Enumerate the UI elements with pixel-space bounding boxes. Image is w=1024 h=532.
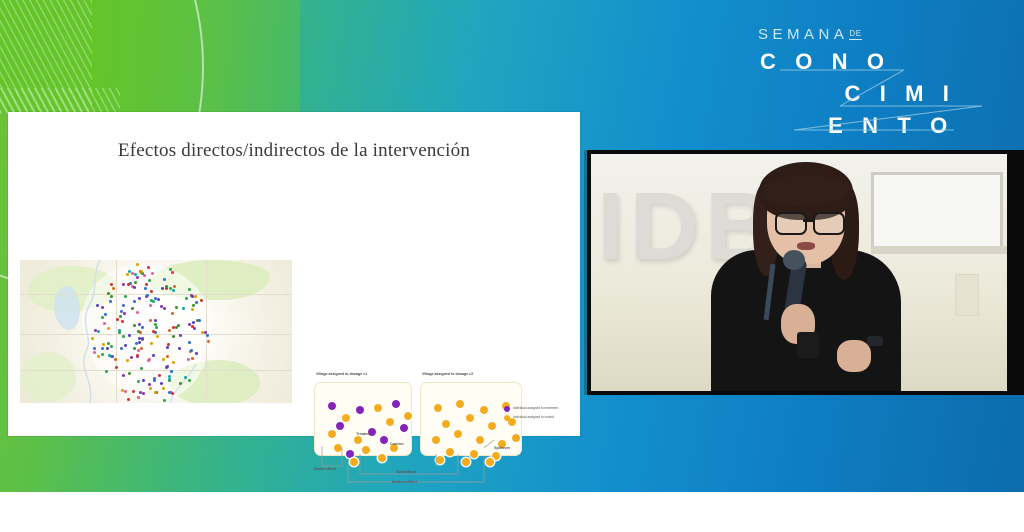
- wall-panel: [955, 274, 979, 316]
- logo-line-4: E N T O: [754, 113, 1006, 139]
- legend-swatch-orange: [504, 415, 510, 421]
- presentation-slide[interactable]: Efectos directos/indirectos de la interv…: [8, 112, 580, 436]
- logo-line-3: C I M I: [754, 81, 1006, 107]
- logo-line-1: SEMANA DE: [754, 26, 1006, 43]
- speaker-glasses: [775, 212, 841, 232]
- diagram-connectors: [308, 370, 576, 488]
- speaker-badge: [797, 332, 819, 358]
- label-treated: Treated: [356, 432, 370, 436]
- logo-word-de: DE: [849, 29, 861, 40]
- speaker-mouth: [797, 242, 815, 250]
- legend-item-control: Individual assigned to control: [504, 415, 576, 421]
- label-indirect-effect: Indirect effect: [392, 480, 417, 484]
- diagram-legend: Individual assigned to treatment Individ…: [504, 406, 576, 424]
- label-control: Control: [390, 442, 404, 446]
- speaker-video-panel[interactable]: IDB: [584, 150, 1024, 395]
- legend-item-treatment: Individual assigned to treatment: [504, 406, 576, 412]
- wall-ledge: [871, 246, 1007, 254]
- effects-diagram: Village assigned to dosage c1 Village as…: [308, 370, 576, 488]
- microphone-head: [783, 250, 805, 270]
- label-spillover: Spillover: [494, 446, 510, 450]
- legend-label-treatment: Individual assigned to treatment: [513, 407, 558, 410]
- footer-bar: AcademiaBID BID: [0, 492, 1024, 532]
- slide-title: Efectos directos/indirectos de la interv…: [8, 140, 580, 162]
- label-total-effect: Total effect: [396, 470, 416, 474]
- stream-viewport: SEMANA DE C O N O C I M I E N T O Efecto…: [0, 0, 1024, 532]
- event-logo: SEMANA DE C O N O C I M I E N T O: [754, 26, 1006, 138]
- wall-window: [871, 172, 1003, 250]
- logo-line-2: C O N O: [754, 49, 1006, 75]
- label-direct-effect: Direct effect: [314, 467, 336, 471]
- intervention-locations-map: [20, 260, 292, 403]
- speaker-hand-second: [837, 340, 871, 372]
- legend-label-control: Individual assigned to control: [513, 416, 554, 419]
- logo-word-semana: SEMANA: [758, 26, 848, 43]
- speaker-video-frame: IDB: [591, 154, 1007, 391]
- legend-swatch-purple: [504, 406, 510, 412]
- speaker-watch: [867, 336, 883, 346]
